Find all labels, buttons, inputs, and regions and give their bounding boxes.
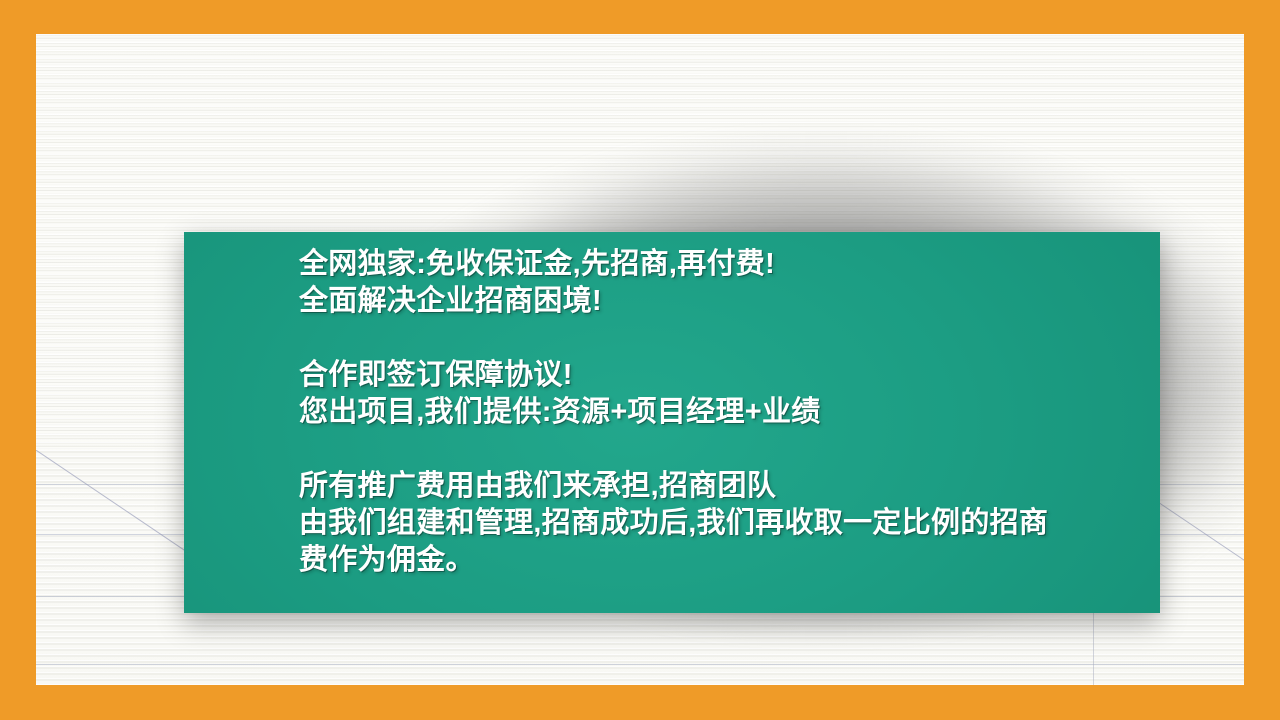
promo-line-2: 全面解决企业招商困境! (299, 283, 1146, 320)
promo-line-3: 合作即签订保障协议! (299, 357, 1146, 394)
promo-panel: 全网独家:免收保证金,先招商,再付费! 全面解决企业招商困境! 合作即签订保障协… (184, 232, 1160, 613)
floor-hline (36, 664, 1244, 665)
room-background: 全网独家:免收保证金,先招商,再付费! 全面解决企业招商困境! 合作即签订保障协… (36, 34, 1244, 685)
promo-line-4: 您出项目,我们提供:资源+项目经理+业绩 (299, 394, 1146, 431)
promo-gap-2 (299, 431, 1146, 468)
promo-line-7: 费作为佣金。 (299, 542, 1146, 579)
promo-line-5: 所有推广费用由我们来承担,招商团队 (299, 468, 1146, 505)
promo-line-1: 全网独家:免收保证金,先招商,再付费! (299, 246, 1146, 283)
slide-root: 全网独家:免收保证金,先招商,再付费! 全面解决企业招商困境! 合作即签订保障协… (0, 0, 1280, 720)
promo-text-block: 全网独家:免收保证金,先招商,再付费! 全面解决企业招商困境! 合作即签订保障协… (299, 246, 1146, 579)
promo-line-6: 由我们组建和管理,招商成功后,我们再收取一定比例的招商 (299, 505, 1146, 542)
promo-gap-1 (299, 320, 1146, 357)
